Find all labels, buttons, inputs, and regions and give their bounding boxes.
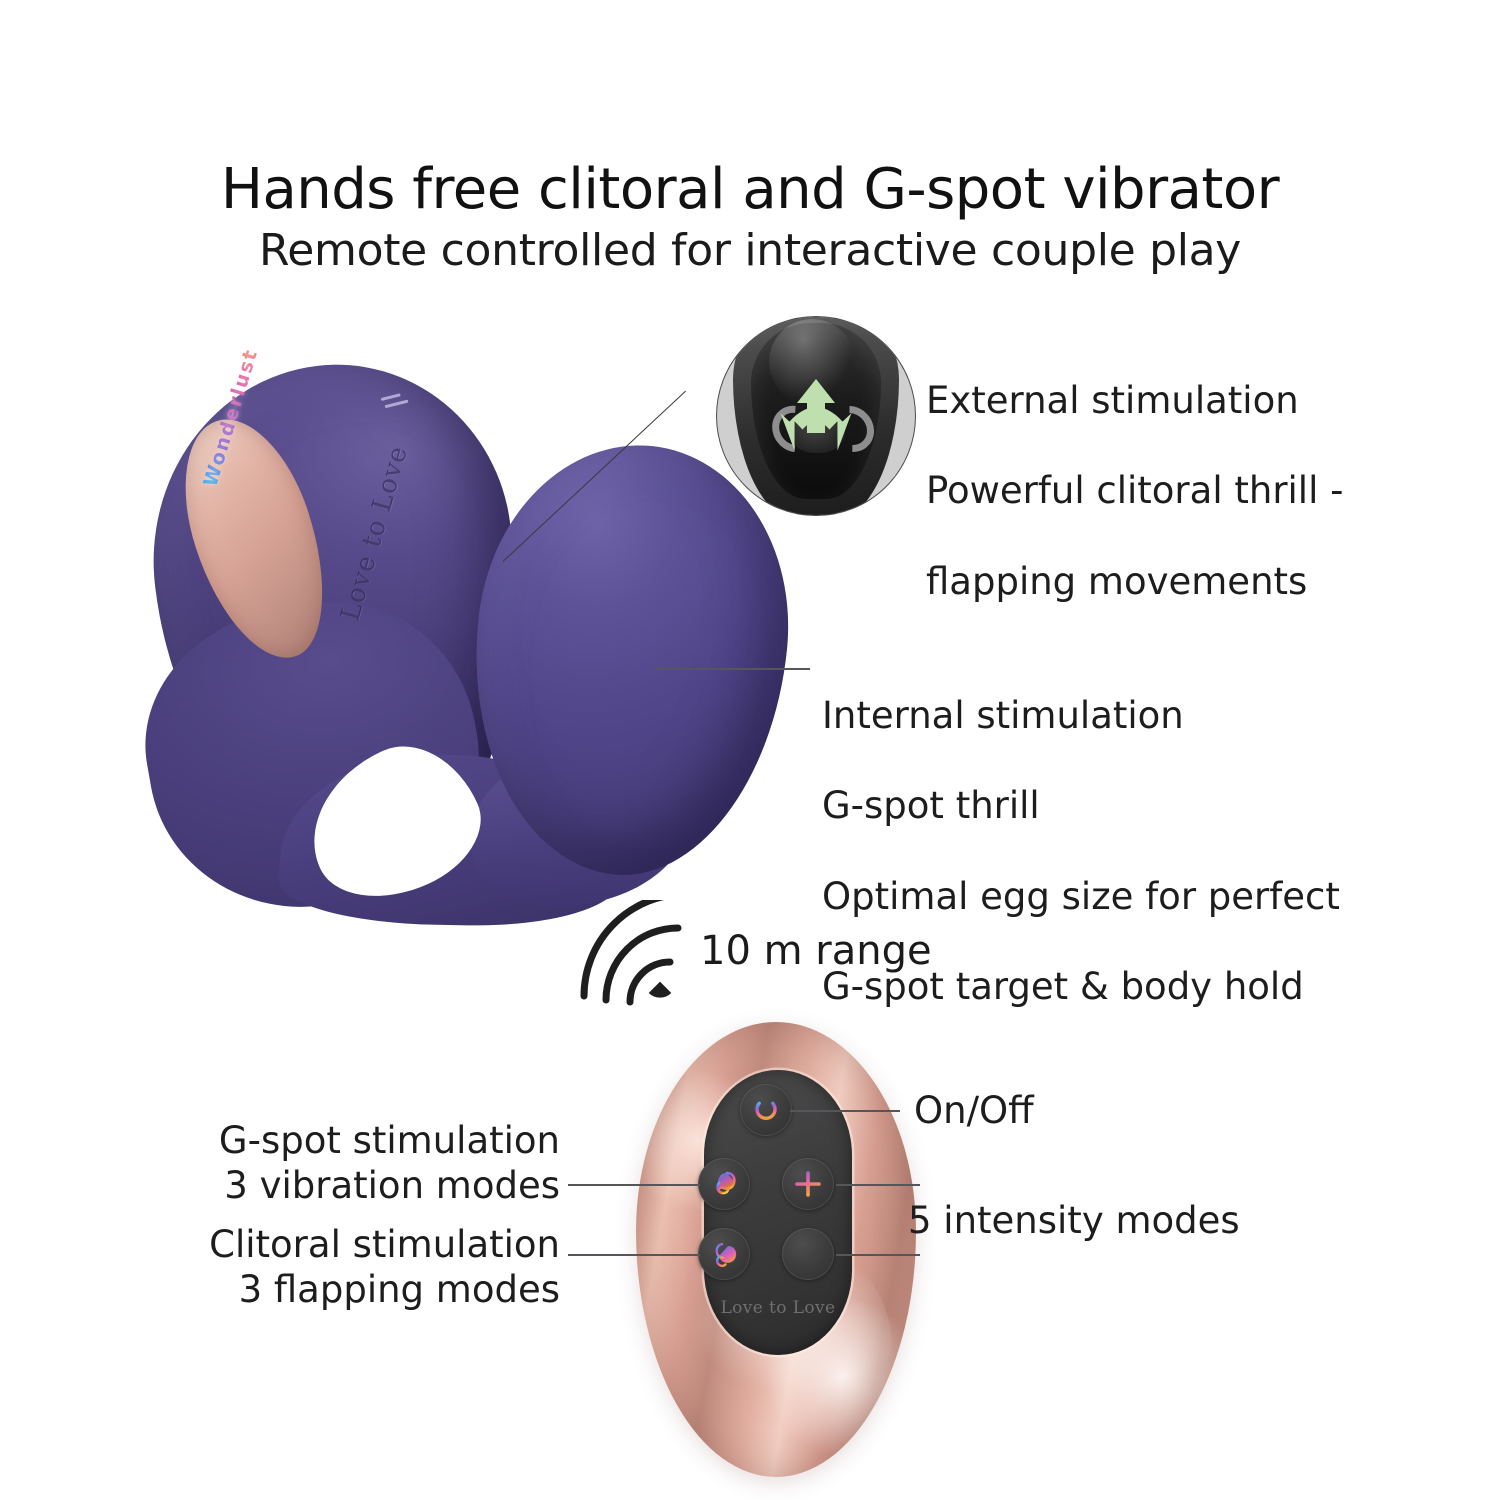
leader-line-internal [655,668,810,670]
clitoral-label: Clitoral stimulation 3 flapping modes [180,1222,560,1312]
egg-vibration-icon [708,1168,740,1200]
leader-line-intensity-plus [836,1184,920,1186]
product-illustration: Wonderlust Love to Love [140,355,780,955]
leader-line-clitoral [568,1254,700,1256]
internal-line-3: Optimal egg size for perfect [822,874,1340,919]
internal-stimulation-note: Internal stimulation G-spot thrill Optim… [822,648,1340,1054]
external-line-2: Powerful clitoral thrill - [926,468,1343,513]
plus-button[interactable] [782,1158,834,1210]
external-line-3: flapping movements [926,559,1343,604]
intensity-label: 5 intensity modes [908,1198,1240,1243]
power-button[interactable] [740,1084,792,1136]
remote-logo: Love to Love [704,1298,852,1318]
power-icon [751,1095,781,1125]
plus-icon [793,1169,823,1199]
leader-line-onoff [790,1110,900,1112]
leader-line-gspot [568,1184,700,1186]
gspot-button[interactable] [698,1158,750,1210]
range-label: 10 m range [700,928,932,974]
remote-control: Love to Love [636,1022,916,1477]
minus-icon [793,1239,823,1269]
infographic-canvas: Hands free clitoral and G-spot vibrator … [0,0,1500,1500]
external-stimulation-callout [716,316,916,516]
wifi-signal-icon [570,900,700,1010]
minus-button[interactable] [782,1228,834,1280]
clitoral-flapping-icon [708,1238,740,1270]
clitoral-button[interactable] [698,1228,750,1280]
onoff-label: On/Off [914,1088,1034,1133]
page-title: Hands free clitoral and G-spot vibrator [0,160,1500,219]
motion-arrows-icon [717,317,915,515]
internal-line-1: Internal stimulation [822,693,1340,738]
page-subtitle: Remote controlled for interactive couple… [0,228,1500,275]
external-stimulation-note: External stimulation Powerful clitoral t… [926,333,1343,649]
internal-line-2: G-spot thrill [822,783,1340,828]
leader-line-intensity-minus [836,1254,920,1256]
external-line-1: External stimulation [926,378,1343,423]
gspot-label: G-spot stimulation 3 vibration modes [180,1118,560,1208]
